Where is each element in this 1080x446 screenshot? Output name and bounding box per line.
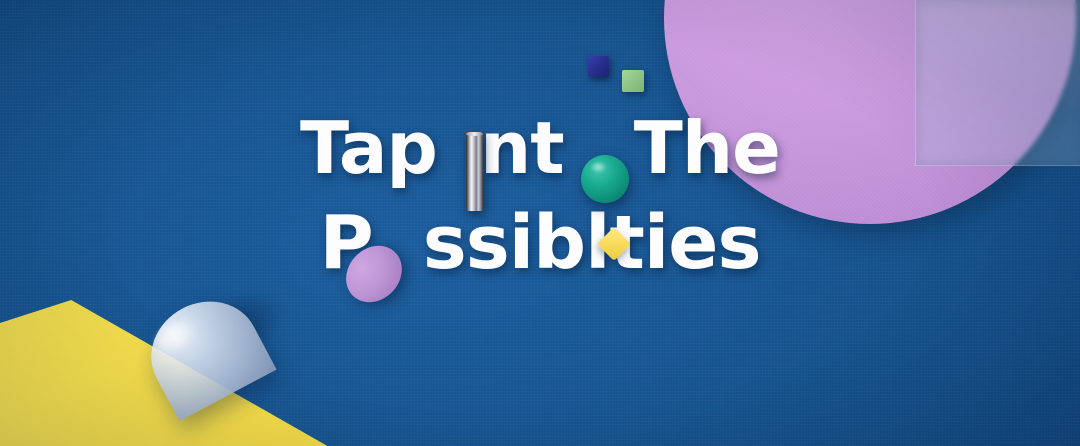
green-cube-shape bbox=[622, 70, 644, 92]
teal-sphere-highlight bbox=[591, 162, 607, 173]
headline-letters-ties: ties bbox=[610, 200, 761, 286]
headline-word-the: The bbox=[634, 106, 780, 190]
headline-block: Tap nt The Pssiblties bbox=[0, 112, 1080, 280]
headline-word-tap: Tap bbox=[300, 106, 437, 190]
chrome-cylinder-letter-i bbox=[466, 132, 483, 211]
navy-cube-shape bbox=[588, 56, 609, 77]
headline-letters-ssib: ssib bbox=[423, 200, 585, 286]
chrome-cylinder-cap bbox=[466, 132, 483, 136]
headline-space-1 bbox=[437, 106, 461, 190]
teal-sphere-letter-o bbox=[581, 155, 629, 203]
hero-banner: Tap nt The Pssiblties bbox=[0, 0, 1080, 446]
headline-line-2: Pssiblties bbox=[0, 206, 1080, 280]
headline-line-1: Tap nt The bbox=[0, 112, 1080, 184]
headline-word-into-mid: nt bbox=[480, 106, 564, 190]
